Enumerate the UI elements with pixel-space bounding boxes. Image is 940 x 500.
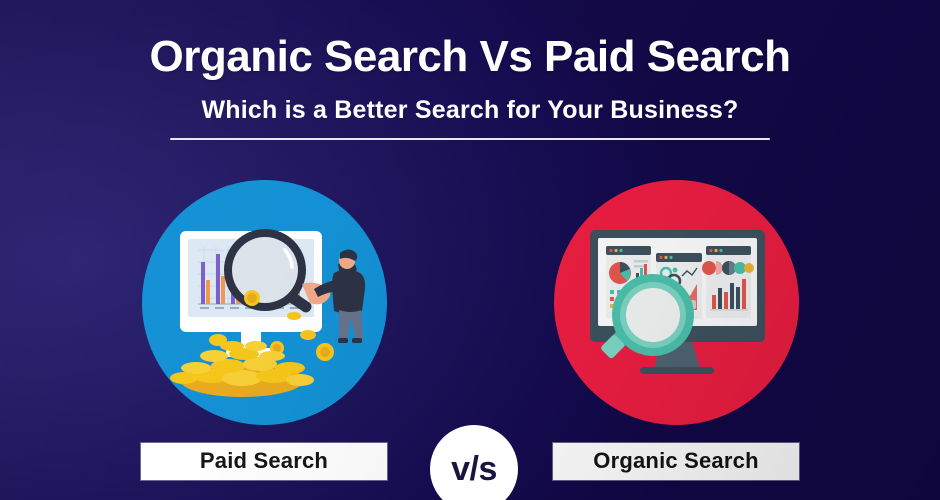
paid-search-label: Paid Search	[141, 443, 387, 480]
infographic-poster: Organic Search Vs Paid Search Which is a…	[0, 0, 940, 500]
paid-search-circle	[142, 180, 387, 425]
paid-search-illustration	[142, 180, 387, 425]
organic-search-circle	[554, 180, 799, 425]
title-underline	[170, 138, 770, 140]
header: Organic Search Vs Paid Search Which is a…	[0, 34, 940, 140]
page-title: Organic Search Vs Paid Search	[0, 34, 940, 81]
panel-paid-search[interactable]: Paid Search	[124, 180, 404, 480]
comparison-stage: Paid Search v/s	[0, 180, 940, 500]
panel-organic-search[interactable]: Organic Search	[536, 180, 816, 480]
page-subtitle: Which is a Better Search for Your Busine…	[0, 96, 940, 125]
versus-badge: v/s	[430, 425, 518, 500]
organic-search-label: Organic Search	[553, 443, 799, 480]
versus-badge-label: v/s	[451, 450, 497, 489]
organic-search-illustration	[554, 180, 799, 425]
